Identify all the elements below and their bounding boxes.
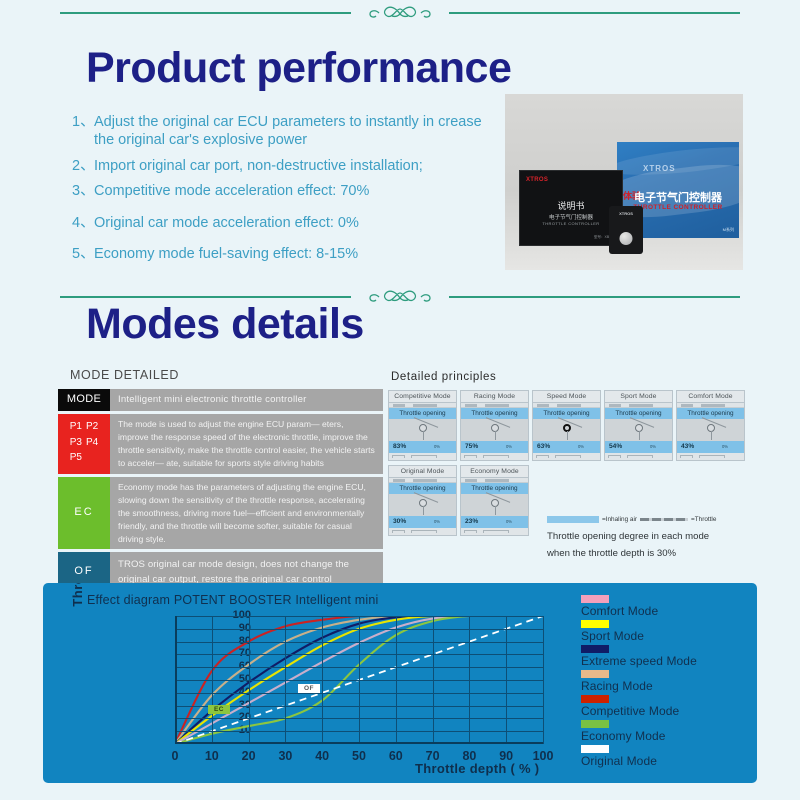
chart-gridlines xyxy=(175,616,543,744)
mode-key-cell: MODE xyxy=(58,389,110,411)
chart-annotation-ec: EC xyxy=(208,705,230,714)
gridline-horizontal xyxy=(175,680,543,681)
valve-stem-icon xyxy=(639,431,640,440)
valve-stem-icon xyxy=(495,506,496,515)
mode-detailed-table: MODE Intelligent mini electronic throttl… xyxy=(58,389,383,595)
card-opening-label: Throttle opening xyxy=(677,408,744,419)
preset-p1: P1 xyxy=(70,420,82,435)
card-percentage-value: 54% xyxy=(609,443,622,450)
card-percentage-sub: 0% xyxy=(722,441,728,453)
legend-label: Comfort Mode xyxy=(581,604,697,618)
chart-plot-area xyxy=(175,616,543,744)
feature-text: Original car mode acceleration effect: 0… xyxy=(94,214,359,232)
card-percentage-value: 23% xyxy=(465,518,478,525)
card-tabs-decoration xyxy=(389,403,456,408)
chart-legend-item: Comfort Mode xyxy=(581,595,697,618)
feature-number: 3、 xyxy=(72,182,94,200)
throttle-swatch-icon xyxy=(640,518,688,521)
legend-color-swatch-icon xyxy=(581,670,609,678)
legend-color-swatch-icon xyxy=(581,620,609,628)
box-cn-title: 电子节气门控制器 xyxy=(617,189,739,205)
table-row: MODE Intelligent mini electronic throttl… xyxy=(58,389,383,411)
feature-item-3: 3、 Competitive mode acceleration effect:… xyxy=(72,182,502,200)
card-percentage: 43% 0% xyxy=(677,441,744,453)
x-tick-label: 70 xyxy=(413,749,453,763)
legend-label: Competitive Mode xyxy=(581,704,697,718)
box-model-text: M系列 xyxy=(723,227,734,233)
valve-stem-icon xyxy=(423,506,424,515)
card-percentage-sub: 0% xyxy=(650,441,656,453)
gridline-horizontal xyxy=(175,706,543,707)
card-percentage-sub: 0% xyxy=(434,516,440,528)
feature-item-5: 5、 Economy mode fuel-saving effect: 8-15… xyxy=(72,245,502,263)
legend-label: Racing Mode xyxy=(581,679,697,693)
device-knob-icon xyxy=(620,232,633,245)
gridline-horizontal xyxy=(175,731,543,732)
card-title: Speed Mode xyxy=(533,391,600,403)
card-valve-diagram xyxy=(461,419,528,441)
card-valve-diagram xyxy=(605,419,672,441)
x-tick-label: 50 xyxy=(339,749,379,763)
legend-color-swatch-icon xyxy=(581,720,609,728)
card-title: Economy Mode xyxy=(461,466,528,478)
legend-label: Original Mode xyxy=(581,754,697,768)
legend-label: Sport Mode xyxy=(581,629,697,643)
gridline-horizontal xyxy=(175,629,543,630)
card-title: Racing Mode xyxy=(461,391,528,403)
valve-stem-icon xyxy=(495,431,496,440)
manual-brand-logo: XTROS xyxy=(526,177,548,183)
mode-detailed-label: MODE DETAILED xyxy=(70,368,179,382)
card-opening-label: Throttle opening xyxy=(461,408,528,419)
card-opening-label: Throttle opening xyxy=(389,408,456,419)
card-opening-label: Throttle opening xyxy=(533,408,600,419)
manual-cn-title: 说明书 xyxy=(520,199,622,212)
gridline-vertical xyxy=(543,616,544,744)
card-foot-decoration xyxy=(677,453,744,460)
product-manual: XTROS 说明书 电子节气门控制器 THROTTLE CONTROLLER 型… xyxy=(519,170,623,246)
feature-list: 1、 Adjust the original car ECU parameter… xyxy=(72,113,502,270)
card-title: Original Mode xyxy=(389,466,456,478)
card-opening-label: Throttle opening xyxy=(605,408,672,419)
valve-stem-icon xyxy=(711,431,712,440)
x-tick-label: 100 xyxy=(523,749,563,763)
product-photo: XTROS 体验 电子节气门控制器 THROTTLE CONTROLLER M系… xyxy=(505,94,743,270)
chart-y-axis xyxy=(175,616,177,744)
feature-number: 4、 xyxy=(72,214,94,232)
feature-text: Competitive mode acceleration effect: 70… xyxy=(94,182,369,200)
card-title: Sport Mode xyxy=(605,391,672,403)
product-infographic-page: Product performance 1、 Adjust the origin… xyxy=(0,0,800,800)
feature-text: Adjust the original car ECU parameters t… xyxy=(94,113,502,150)
card-tabs-decoration xyxy=(677,403,744,408)
legend-color-swatch-icon xyxy=(581,745,609,753)
card-percentage: 30% 0% xyxy=(389,516,456,528)
card-valve-diagram xyxy=(533,419,600,441)
card-percentage: 75% 0% xyxy=(461,441,528,453)
gridline-horizontal xyxy=(175,654,543,655)
manual-en-subtitle: THROTTLE CONTROLLER xyxy=(520,221,622,226)
card-percentage-sub: 0% xyxy=(506,516,512,528)
x-tick-label: 40 xyxy=(302,749,342,763)
effect-diagram-panel: Effect diagram POTENT BOOSTER Intelligen… xyxy=(43,583,757,783)
mode-key-cell-presets: P1 P2 P3 P4 P5 xyxy=(58,414,110,474)
card-tabs-decoration xyxy=(461,403,528,408)
card-legend-caption-line1: Throttle opening degree in each mode xyxy=(547,529,752,544)
preset-p4: P4 xyxy=(86,436,98,451)
card-title: Comfort Mode xyxy=(677,391,744,403)
preset-p3: P3 xyxy=(70,436,82,451)
card-percentage-sub: 0% xyxy=(506,441,512,453)
chart-y-axis-label: Throttle opening ( % ) xyxy=(70,583,100,611)
chart-annotation-of: OF xyxy=(298,684,320,693)
card-foot-decoration xyxy=(389,528,456,535)
valve-stem-icon xyxy=(567,431,568,440)
box-brand-logo: XTROS xyxy=(643,164,676,173)
principle-card-comfort: Comfort Mode Throttle opening 43% 0% xyxy=(676,390,745,461)
principle-card-original: Original Mode Throttle opening 30% 0% xyxy=(388,465,457,536)
principle-card-speed: Speed Mode Throttle opening 63% 0% xyxy=(532,390,601,461)
feature-item-1: 1、 Adjust the original car ECU parameter… xyxy=(72,113,502,150)
mode-description-cell: The mode is used to adjust the engine EC… xyxy=(110,414,383,474)
x-tick-label: 10 xyxy=(192,749,232,763)
card-tabs-decoration xyxy=(461,478,528,483)
chart-legend-item: Extreme speed Mode xyxy=(581,645,697,668)
card-foot-decoration xyxy=(461,453,528,460)
card-valve-diagram xyxy=(461,494,528,516)
legend-color-swatch-icon xyxy=(581,695,609,703)
preset-p2: P2 xyxy=(86,420,98,435)
principle-cards-row-1: Competitive Mode Throttle opening 83% 0%… xyxy=(388,390,746,461)
chart-legend: Comfort ModeSport ModeExtreme speed Mode… xyxy=(581,595,697,770)
card-percentage-sub: 0% xyxy=(434,441,440,453)
throttle-label: =Throttle xyxy=(691,516,716,523)
table-row: P1 P2 P3 P4 P5 The mode is used to adjus… xyxy=(58,414,383,474)
card-opening-label: Throttle opening xyxy=(389,483,456,494)
gridline-horizontal xyxy=(175,718,543,719)
card-valve-diagram xyxy=(389,494,456,516)
preset-p5: P5 xyxy=(70,451,82,466)
card-legend-row: =Inhaling air =Throttle xyxy=(547,516,752,523)
card-percentage-value: 30% xyxy=(393,518,406,525)
inhaling-air-label: =Inhaling air xyxy=(602,516,637,523)
preset-grid: P1 P2 P3 P4 P5 xyxy=(70,420,98,466)
card-foot-decoration xyxy=(461,528,528,535)
chart-x-axis xyxy=(175,742,543,744)
divider-ornament-icon xyxy=(351,0,449,22)
card-tabs-decoration xyxy=(533,403,600,408)
mode-key-cell-ec: EC xyxy=(58,477,110,549)
card-opening-label: Throttle opening xyxy=(461,483,528,494)
x-tick-label: 80 xyxy=(449,749,489,763)
feature-text: Import original car port, non-destructiv… xyxy=(94,157,423,175)
x-tick-label: 0 xyxy=(155,749,195,763)
card-percentage-value: 43% xyxy=(681,443,694,450)
card-foot-decoration xyxy=(533,453,600,460)
mode-description-cell: Economy mode has the parameters of adjus… xyxy=(110,477,383,549)
card-percentage-value: 75% xyxy=(465,443,478,450)
device-brand-logo: XTROS xyxy=(609,211,643,216)
legend-color-swatch-icon xyxy=(581,595,609,603)
mode-description-cell: Intelligent mini electronic throttle con… xyxy=(110,389,383,411)
principle-card-economy: Economy Mode Throttle opening 23% 0% xyxy=(460,465,529,536)
manual-cn-subtitle: 电子节气门控制器 xyxy=(520,213,622,221)
throttle-controller-device: XTROS xyxy=(609,206,643,254)
section-divider-top xyxy=(60,0,740,26)
chart-x-axis-label: Throttle depth ( % ) xyxy=(415,761,539,776)
feature-number: 1、 xyxy=(72,113,94,150)
valve-stem-icon xyxy=(423,431,424,440)
chart-title: Effect diagram POTENT BOOSTER Intelligen… xyxy=(87,593,378,607)
card-percentage: 83% 0% xyxy=(389,441,456,453)
card-legend-caption-line2: when the throttle depth is 30% xyxy=(547,546,752,561)
legend-color-swatch-icon xyxy=(581,645,609,653)
card-foot-decoration xyxy=(389,453,456,460)
divider-ornament-icon xyxy=(351,284,449,306)
card-percentage-value: 83% xyxy=(393,443,406,450)
feature-item-4: 4、 Original car mode acceleration effect… xyxy=(72,214,502,232)
principle-card-competitive: Competitive Mode Throttle opening 83% 0% xyxy=(388,390,457,461)
x-tick-label: 60 xyxy=(376,749,416,763)
card-tabs-decoration xyxy=(605,403,672,408)
legend-label: Economy Mode xyxy=(581,729,697,743)
card-percentage-value: 63% xyxy=(537,443,550,450)
chart-legend-item: Competitive Mode xyxy=(581,695,697,718)
card-title: Competitive Mode xyxy=(389,391,456,403)
gridline-horizontal xyxy=(175,616,543,617)
chart-legend-item: Racing Mode xyxy=(581,670,697,693)
page-title-product-performance: Product performance xyxy=(86,44,511,93)
feature-text: Economy mode fuel-saving effect: 8-15% xyxy=(94,245,358,263)
x-tick-label: 90 xyxy=(486,749,526,763)
card-foot-decoration xyxy=(605,453,672,460)
card-valve-diagram xyxy=(677,419,744,441)
gridline-horizontal xyxy=(175,642,543,643)
principle-card-sport: Sport Mode Throttle opening 54% 0% xyxy=(604,390,673,461)
chart-legend-item: Economy Mode xyxy=(581,720,697,743)
gridline-horizontal xyxy=(175,667,543,668)
chart-legend-item: Sport Mode xyxy=(581,620,697,643)
feature-number: 2、 xyxy=(72,157,94,175)
principle-card-racing: Racing Mode Throttle opening 75% 0% xyxy=(460,390,529,461)
gridline-horizontal xyxy=(175,693,543,694)
card-percentage-sub: 0% xyxy=(578,441,584,453)
card-percentage: 63% 0% xyxy=(533,441,600,453)
card-legend: =Inhaling air =Throttle Throttle opening… xyxy=(547,516,752,562)
card-percentage: 23% 0% xyxy=(461,516,528,528)
detailed-principles-label: Detailed principles xyxy=(391,371,496,383)
card-percentage: 54% 0% xyxy=(605,441,672,453)
card-tabs-decoration xyxy=(389,478,456,483)
x-tick-label: 30 xyxy=(265,749,305,763)
inhaling-air-swatch-icon xyxy=(547,516,599,523)
table-row: EC Economy mode has the parameters of ad… xyxy=(58,477,383,549)
chart-legend-item: Original Mode xyxy=(581,745,697,768)
feature-item-2: 2、 Import original car port, non-destruc… xyxy=(72,157,502,175)
page-title-modes-details: Modes details xyxy=(86,300,364,349)
x-tick-label: 20 xyxy=(229,749,269,763)
feature-number: 5、 xyxy=(72,245,94,263)
card-valve-diagram xyxy=(389,419,456,441)
legend-label: Extreme speed Mode xyxy=(581,654,697,668)
